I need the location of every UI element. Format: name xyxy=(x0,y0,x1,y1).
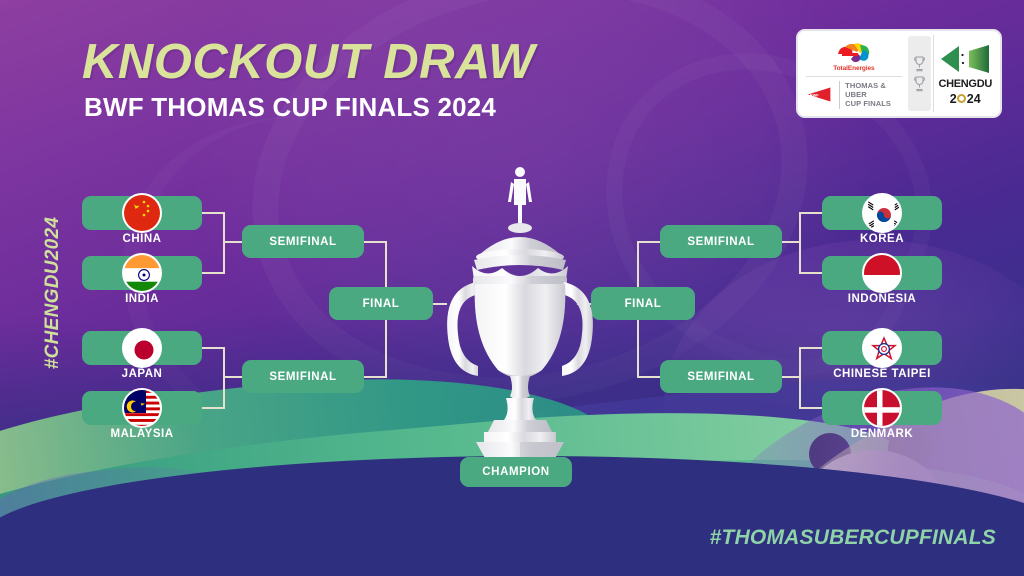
team-label-india: INDIA xyxy=(82,293,202,305)
flag-korea-icon xyxy=(862,193,902,233)
final-label-left: FINAL xyxy=(363,298,400,310)
connector-indonesia-to-semifinal xyxy=(800,272,822,274)
thomas-cup-trophy-illustration xyxy=(432,162,608,462)
semifinal-label-left-bottom: SEMIFINAL xyxy=(269,371,336,383)
connector-vertical-right-bottom xyxy=(799,347,801,409)
connector-semifinal-4-out xyxy=(638,376,660,378)
team-label-korea: KOREA xyxy=(822,233,942,245)
semifinal-label-right-top: SEMIFINAL xyxy=(687,236,754,248)
champion-slot[interactable]: CHAMPION xyxy=(460,457,572,487)
connector-into-semifinal-4 xyxy=(781,376,801,378)
team-label-japan: JAPAN xyxy=(82,368,202,380)
team-label-chinese-taipei: CHINESE TAIPEI xyxy=(812,368,952,380)
champion-label: CHAMPION xyxy=(482,466,549,478)
connector-japan-to-semifinal xyxy=(202,347,224,349)
semifinal-slot-left-bottom[interactable]: SEMIFINAL xyxy=(242,360,364,393)
flag-india-icon xyxy=(122,253,162,293)
connector-vertical-left-bottom xyxy=(223,347,225,409)
connector-denmark-to-semifinal xyxy=(800,407,822,409)
connector-semifinal-3-out xyxy=(638,241,660,243)
final-label-right: FINAL xyxy=(625,298,662,310)
connector-into-semifinal-3 xyxy=(781,241,801,243)
connector-malaysia-to-semifinal xyxy=(202,407,224,409)
team-label-malaysia: MALAYSIA xyxy=(82,428,202,440)
semifinal-slot-right-top[interactable]: SEMIFINAL xyxy=(660,225,782,258)
semifinal-label-left-top: SEMIFINAL xyxy=(269,236,336,248)
connector-vertical-right-top xyxy=(799,212,801,274)
team-label-denmark: DENMARK xyxy=(822,428,942,440)
flag-indonesia-icon xyxy=(862,253,902,293)
final-slot-left[interactable]: FINAL xyxy=(329,287,433,320)
flag-denmark-icon xyxy=(862,388,902,428)
connector-china-to-semifinal xyxy=(202,212,224,214)
connector-vertical-left-top xyxy=(223,212,225,274)
connector-into-semifinal-2 xyxy=(223,376,243,378)
semifinal-slot-right-bottom[interactable]: SEMIFINAL xyxy=(660,360,782,393)
flag-chinese-taipei-icon xyxy=(862,328,902,368)
flag-japan-icon xyxy=(122,328,162,368)
connector-semifinal-2-out xyxy=(364,376,386,378)
semifinal-slot-left-top[interactable]: SEMIFINAL xyxy=(242,225,364,258)
connector-india-to-semifinal xyxy=(202,272,224,274)
team-label-china: CHINA xyxy=(82,233,202,245)
flag-china-icon xyxy=(122,193,162,233)
team-label-indonesia: INDONESIA xyxy=(822,293,942,305)
connector-into-semifinal-1 xyxy=(223,241,243,243)
connector-semifinal-1-out xyxy=(364,241,386,243)
connector-korea-to-semifinal xyxy=(800,212,822,214)
semifinal-label-right-bottom: SEMIFINAL xyxy=(687,371,754,383)
tournament-bracket: CHINA INDIA JAPAN xyxy=(0,0,1024,576)
connector-taipei-to-semifinal xyxy=(800,347,822,349)
flag-malaysia-icon xyxy=(122,388,162,428)
knockout-draw-graphic: KNOCKOUT DRAW BWF THOMAS CUP FINALS 2024… xyxy=(0,0,1024,576)
